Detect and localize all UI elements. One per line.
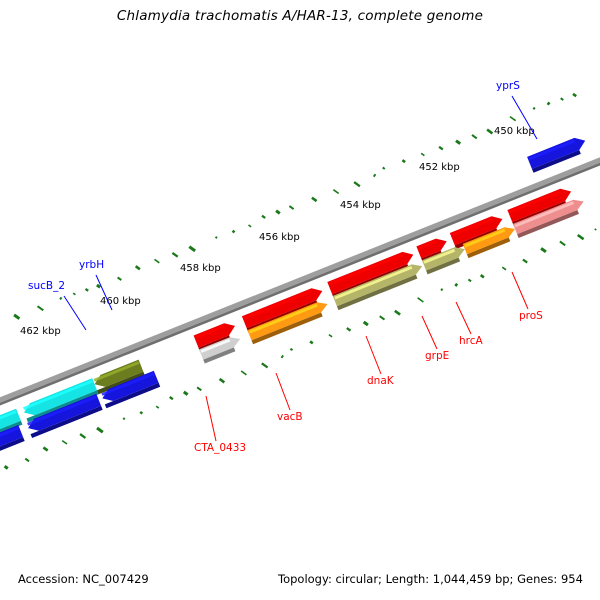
gene-label-leader-line <box>512 272 528 309</box>
tick-label: 458 kbp <box>180 263 221 274</box>
genome-map-viewer: Chlamydia trachomatis A/HAR-13, complete… <box>0 0 600 600</box>
tick-label: 450 kbp <box>494 126 535 137</box>
gene-label-leader-line <box>276 373 290 410</box>
gene-label-yrbH[interactable]: yrbH <box>79 259 104 271</box>
gene-label-leader-line <box>64 296 86 330</box>
gene-label-dnaK[interactable]: dnaK <box>367 375 395 387</box>
accession-text: Accession: NC_007429 <box>18 572 149 586</box>
tick-label: 452 kbp <box>419 162 460 173</box>
gene-box[interactable] <box>0 425 25 469</box>
gene-label-sucB_2[interactable]: sucB_2 <box>28 280 65 292</box>
tick-label: 456 kbp <box>259 232 300 243</box>
gene-label-leader-line <box>366 336 381 374</box>
gene-label-leader-line <box>422 316 437 349</box>
gene-label-leader-line <box>456 302 471 334</box>
gene-label-vacB[interactable]: vacB <box>277 411 303 423</box>
gene-label-yprS[interactable]: yprS <box>496 80 520 92</box>
tick-label: 454 kbp <box>340 200 381 211</box>
tick-label: 462 kbp <box>20 326 61 337</box>
gene-label-CTA_0433[interactable]: CTA_0433 <box>194 442 246 454</box>
genome-backbone-axis <box>0 150 600 417</box>
genome-map-canvas[interactable]: 462 kbp460 kbp458 kbp456 kbp454 kbp452 k… <box>0 0 600 600</box>
gene-label-hrcA[interactable]: hrcA <box>459 335 484 347</box>
gene-label-grpE[interactable]: grpE <box>425 350 449 362</box>
genome-metadata-text: Topology: circular; Length: 1,044,459 bp… <box>278 572 583 586</box>
gene-label-proS[interactable]: proS <box>519 310 543 322</box>
gene-label-leader-line <box>206 396 216 441</box>
